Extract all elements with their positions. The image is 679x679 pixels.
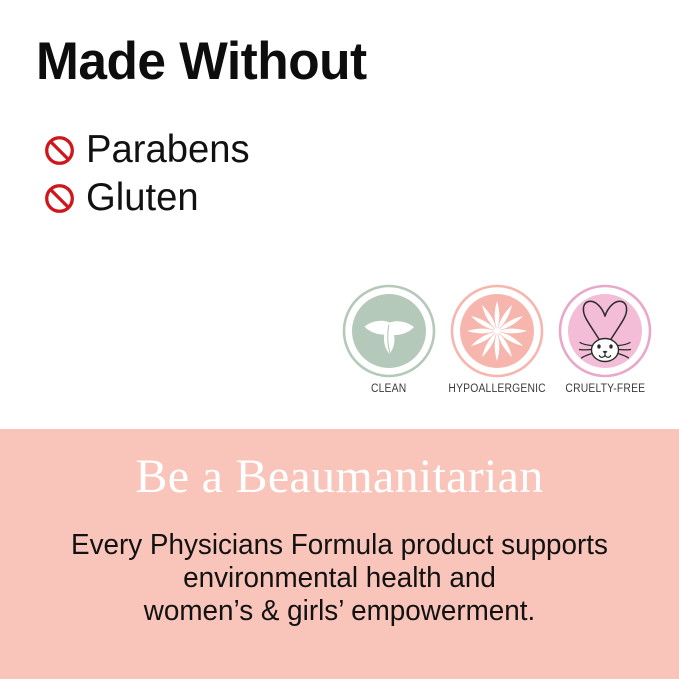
badge-label: HYPOALLERGENIC (448, 383, 545, 395)
no-entry-icon (44, 135, 75, 166)
starburst-flower-icon (449, 283, 545, 379)
banner-body-line: Every Physicians Formula product support… (14, 529, 666, 562)
badge-label: CRUELTY-FREE (565, 383, 645, 395)
no-entry-icon (44, 183, 75, 214)
certification-badge-row: CLEAN (341, 283, 653, 395)
list-item: Gluten (44, 175, 253, 221)
banner-body-line: women’s & girls’ empowerment. (14, 595, 666, 628)
banner-body-line: environmental health and (14, 562, 666, 595)
exclusion-label: Gluten (86, 178, 199, 218)
badge-cruelty-free: CRUELTY-FREE (557, 283, 653, 395)
leaves-icon (341, 283, 437, 379)
bunny-heart-icon (557, 283, 653, 379)
exclusion-list: Parabens Gluten (44, 127, 253, 223)
list-item: Parabens (44, 127, 253, 173)
badge-hypoallergenic: HYPOALLERGENIC (449, 283, 545, 395)
badge-label: CLEAN (371, 383, 406, 395)
product-claims-panel: Made Without Parabens Gluten (0, 0, 679, 679)
page-title: Made Without (36, 33, 367, 91)
beaumanitarian-banner: Be a Beaumanitarian Every Physicians For… (0, 429, 679, 679)
banner-body: Every Physicians Formula product support… (0, 529, 679, 628)
exclusion-label: Parabens (86, 130, 250, 170)
made-without-section: Made Without Parabens Gluten (0, 0, 679, 429)
banner-title: Be a Beaumanitarian (0, 451, 679, 503)
badge-clean: CLEAN (341, 283, 437, 395)
